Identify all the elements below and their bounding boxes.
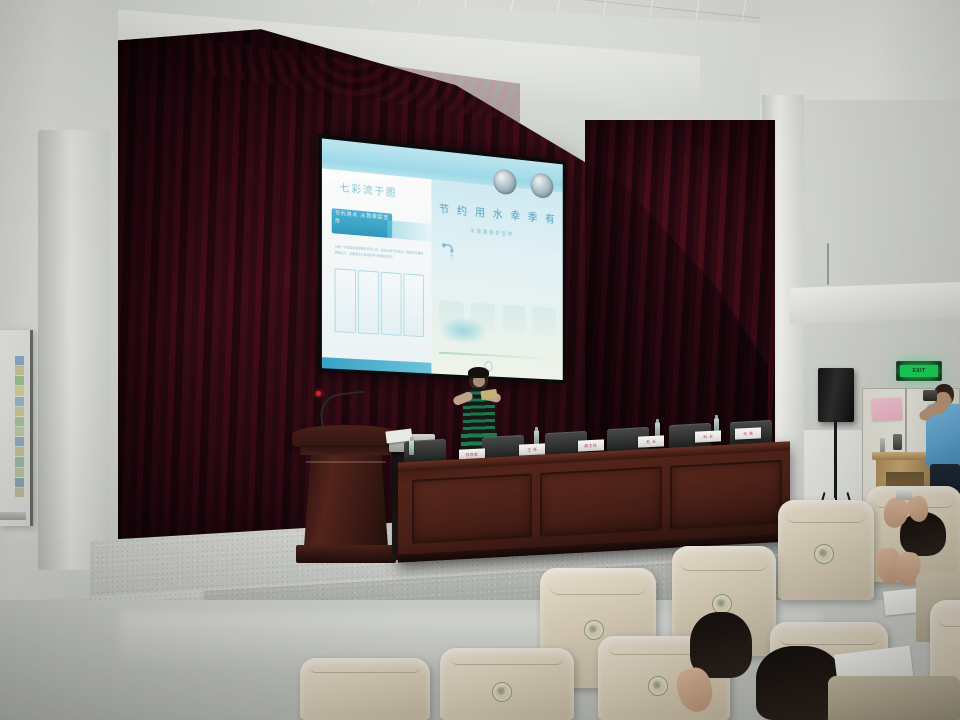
loudspeaker bbox=[818, 368, 854, 422]
exit-sign-text: EXIT bbox=[900, 365, 938, 377]
slide-box bbox=[335, 268, 356, 333]
table-panel bbox=[540, 466, 662, 537]
audience-seat[interactable] bbox=[300, 658, 430, 720]
seat-crest-icon bbox=[492, 682, 512, 702]
podium-top bbox=[292, 425, 400, 447]
name-placard: 处 长 bbox=[638, 435, 664, 447]
seat-crest-icon bbox=[584, 620, 604, 640]
seat-crest-icon bbox=[712, 594, 732, 614]
camera-icon bbox=[923, 390, 937, 401]
name-placard: 代 表 bbox=[735, 427, 761, 439]
whiteboard-marker-tray bbox=[0, 512, 26, 520]
name-placard: 科 长 bbox=[695, 430, 721, 442]
whiteboard-color-strip bbox=[15, 356, 24, 498]
audience-seat[interactable] bbox=[778, 500, 874, 600]
projected-slide: 七彩流于图 节约用水 从我做起宣传 为进一步加强水资源保护宣传工作，提高全民节水… bbox=[322, 138, 563, 380]
wall-left-column bbox=[38, 130, 110, 570]
placard-text: 处 长 bbox=[646, 438, 656, 444]
podium-body bbox=[304, 455, 388, 547]
faucet-icon bbox=[441, 240, 456, 261]
rain-collect-icon bbox=[502, 305, 526, 335]
compact-camera-icon bbox=[896, 488, 912, 500]
water-bottle bbox=[409, 440, 414, 455]
seat-crest-icon bbox=[648, 676, 668, 696]
audience-seat[interactable] bbox=[440, 648, 574, 720]
placard-text: 副主任 bbox=[585, 442, 598, 448]
head-conference-table bbox=[398, 441, 790, 562]
table-panel bbox=[412, 473, 532, 543]
podium-base bbox=[296, 545, 396, 563]
water-test-icon bbox=[533, 307, 556, 337]
slide-box-row bbox=[335, 268, 425, 337]
placard-text: 主 任 bbox=[527, 446, 537, 452]
door-handle-icon[interactable] bbox=[893, 434, 902, 450]
speaker-stand-pole bbox=[834, 420, 837, 498]
emergency-exit-sign: EXIT bbox=[896, 361, 942, 381]
name-placard: 副主任 bbox=[578, 439, 604, 451]
slide-box bbox=[404, 273, 425, 337]
slide-badge: 节约用水 从我做起宣传 bbox=[332, 208, 392, 238]
table-panel bbox=[670, 460, 782, 530]
wall-ledge-beam bbox=[790, 282, 960, 324]
placard-text: 代 表 bbox=[743, 430, 753, 436]
projection-screen: 七彩流于图 节约用水 从我做起宣传 为进一步加强水资源保护宣传工作，提高全民节水… bbox=[318, 134, 566, 384]
slide-box bbox=[381, 272, 402, 337]
audience-person-body bbox=[828, 676, 960, 720]
placard-text: 科 长 bbox=[703, 433, 713, 439]
slide-box bbox=[358, 270, 379, 335]
microphone-led-icon bbox=[316, 391, 321, 396]
speaker-podium bbox=[298, 425, 394, 565]
wall-cable bbox=[827, 243, 829, 285]
door-notice-paper bbox=[872, 397, 903, 420]
auditorium-scene: 七彩流于图 节约用水 从我做起宣传 为进一步加强水资源保护宣传工作，提高全民节水… bbox=[0, 0, 960, 720]
placard-text: 领导席 bbox=[466, 451, 479, 457]
podium-neck bbox=[300, 445, 392, 455]
seat-crest-icon bbox=[814, 544, 834, 564]
